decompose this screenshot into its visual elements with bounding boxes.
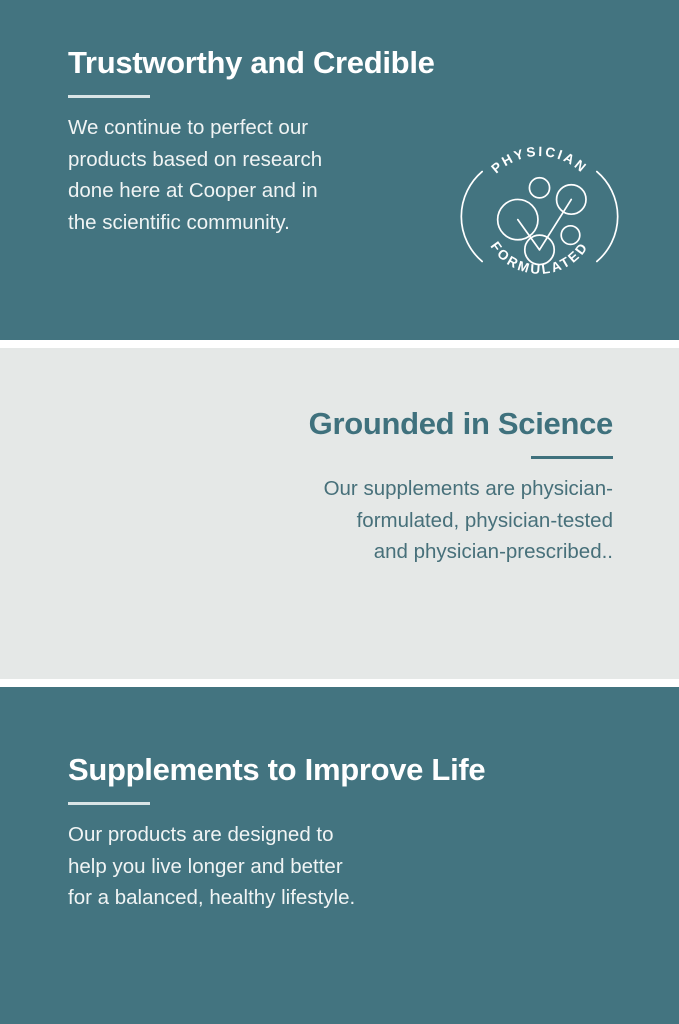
panel-supplements-text-block: Supplements to Improve Life Our products…	[68, 751, 468, 914]
panel-supplements-to-improve-life: Supplements to Improve Life Our products…	[0, 687, 679, 1024]
body-line: We continue to perfect our	[68, 116, 308, 139]
panel-trustworthy-text-block: Trustworthy and Credible We continue to …	[68, 44, 428, 238]
body-line: products based on research	[68, 148, 322, 171]
marketing-feature-panels: Trustworthy and Credible We continue to …	[0, 0, 679, 1024]
body-line: done here at Cooper and in	[68, 179, 318, 202]
body-line: the scientific community.	[68, 211, 290, 234]
panel-trustworthy-body: We continue to perfect our products base…	[68, 112, 428, 238]
physician-formulated-badge-icon: PHYSICIAN FORMULATED	[462, 139, 617, 294]
body-line: formulated, physician-tested	[357, 509, 613, 532]
panel-grounded-divider	[531, 456, 613, 459]
badge-bottom-arc-label: FORMULATED	[488, 239, 592, 277]
body-line: and physician-prescribed..	[374, 540, 613, 563]
body-line: Our supplements are physician-	[324, 477, 613, 500]
body-line: help you live longer and better	[68, 855, 343, 878]
panel-trustworthy-and-credible: Trustworthy and Credible We continue to …	[0, 0, 679, 340]
panel-grounded-body: Our supplements are physician- formulate…	[213, 473, 613, 568]
panel-trustworthy-divider	[68, 95, 150, 98]
badge-top-arc-label: PHYSICIAN	[488, 144, 590, 176]
panel-supplements-divider	[68, 802, 150, 805]
body-line: Our products are designed to	[68, 823, 334, 846]
panel-supplements-body: Our products are designed to help you li…	[68, 819, 468, 914]
panel-grounded-text-block: Grounded in Science Our supplements are …	[213, 405, 613, 568]
body-line: for a balanced, healthy lifestyle.	[68, 886, 355, 909]
panel-grounded-heading: Grounded in Science	[213, 405, 613, 443]
panel-supplements-heading: Supplements to Improve Life	[68, 751, 468, 789]
panel-trustworthy-heading: Trustworthy and Credible	[68, 44, 428, 82]
panel-grounded-in-science: Grounded in Science Our supplements are …	[0, 348, 679, 679]
